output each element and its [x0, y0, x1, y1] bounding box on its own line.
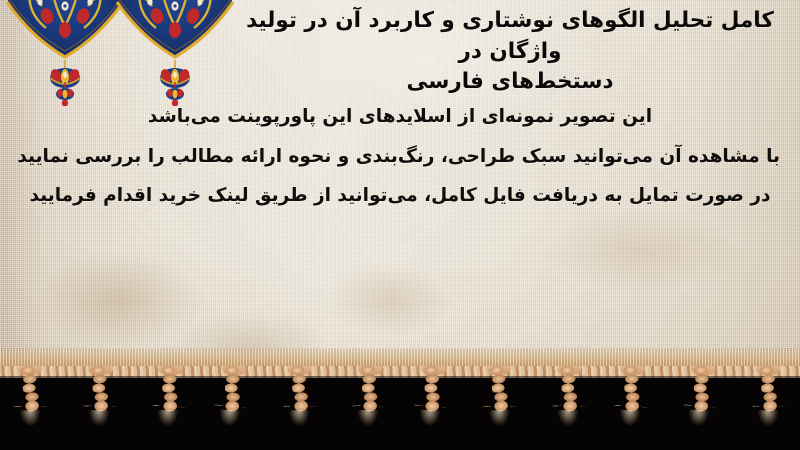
carpet-fringe	[0, 366, 800, 450]
slide-title-line-2: دستخط‌های فارسی	[230, 67, 790, 98]
tassel-fibers	[483, 406, 519, 450]
tassel-fibers	[282, 406, 319, 450]
tassel-fibers	[350, 405, 388, 450]
fringe-tassel	[410, 366, 453, 450]
fringe-tassel	[747, 366, 790, 450]
tassel-fibers	[210, 404, 250, 450]
tassel-fibers	[611, 405, 650, 450]
tassel-fibers	[14, 406, 50, 450]
tassel-fibers	[751, 406, 788, 450]
fringe-tassel	[678, 366, 722, 450]
tassel-fibers	[679, 404, 719, 450]
fringe-shadow	[0, 376, 800, 386]
slide-body-line-2: با مشاهده آن می‌توانید سبک طراحی، رنگ‌بن…	[20, 148, 780, 167]
presentation-slide: کامل تحلیل الگوهای نوشتاری و کاربرد آن د…	[0, 0, 800, 450]
fringe-tassel	[9, 366, 53, 450]
tassel-fibers	[411, 405, 451, 450]
fringe-tassel	[548, 366, 589, 450]
slide-title: کامل تحلیل الگوهای نوشتاری و کاربرد آن د…	[230, 6, 790, 98]
fringe-tassel	[611, 366, 652, 450]
slide-text-layer: کامل تحلیل الگوهای نوشتاری و کاربرد آن د…	[0, 0, 800, 372]
tassel-fibers	[550, 405, 588, 450]
tassel-fibers	[82, 405, 120, 450]
slide-body-line-1: این تصویر نمونه‌ای از اسلایدهای این پاور…	[20, 108, 780, 127]
slide-body-line-3: در صورت تمایل به دریافت فایل کامل، می‌تو…	[20, 187, 780, 206]
fringe-tassel	[79, 366, 120, 450]
fringe-tassel	[478, 366, 522, 450]
slide-title-line-1: کامل تحلیل الگوهای نوشتاری و کاربرد آن د…	[230, 6, 790, 67]
fringe-tassel	[209, 366, 253, 450]
fringe-tassel	[349, 366, 389, 450]
fringe-tassel	[279, 366, 322, 450]
slide-body: این تصویر نمونه‌ای از اسلایدهای این پاور…	[20, 108, 780, 206]
tassel-fibers	[149, 405, 188, 450]
fringe-tassel	[148, 366, 189, 450]
